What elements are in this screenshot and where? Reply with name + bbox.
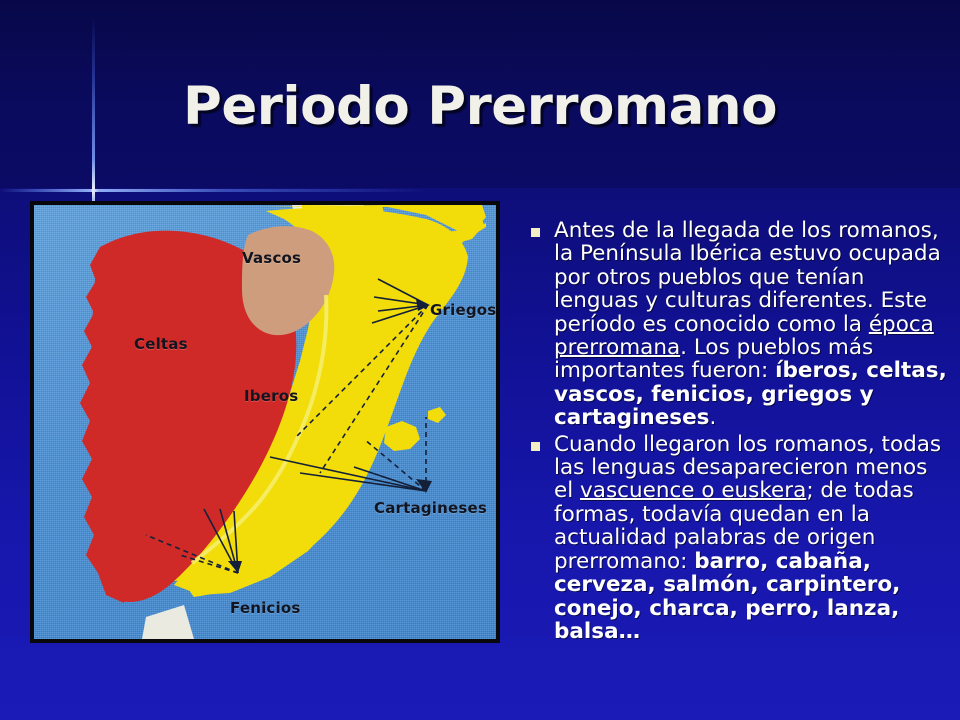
list-item: Antes de la llegada de los romanos, la P… [528,219,948,430]
map-label-iberos: Iberos [244,387,298,405]
map-label-celtas: Celtas [134,335,188,353]
bullet-paragraph-1: Antes de la llegada de los romanos, la P… [554,219,948,430]
map-label-cartagineses: Cartagineses [374,499,487,517]
map-image: Celtas Iberos Vascos Griegos Cartaginese… [30,201,500,643]
bullet-square-icon [531,228,540,237]
bullet-paragraph-2: Cuando llegaron los romanos, todas las l… [554,433,948,644]
content-body: Antes de la llegada de los romanos, la P… [528,219,948,646]
list-item: Cuando llegaron los romanos, todas las l… [528,433,948,644]
slide-canvas: Periodo Prerromano [0,0,960,720]
map-label-vascos: Vascos [242,249,301,267]
page-title: Periodo Prerromano [0,76,960,137]
bullet-square-icon [531,442,540,451]
map-label-fenicios: Fenicios [230,599,301,617]
decorative-horizontal-line [0,189,430,192]
map-label-griegos: Griegos [430,301,496,319]
map-vector-layer [34,205,496,639]
